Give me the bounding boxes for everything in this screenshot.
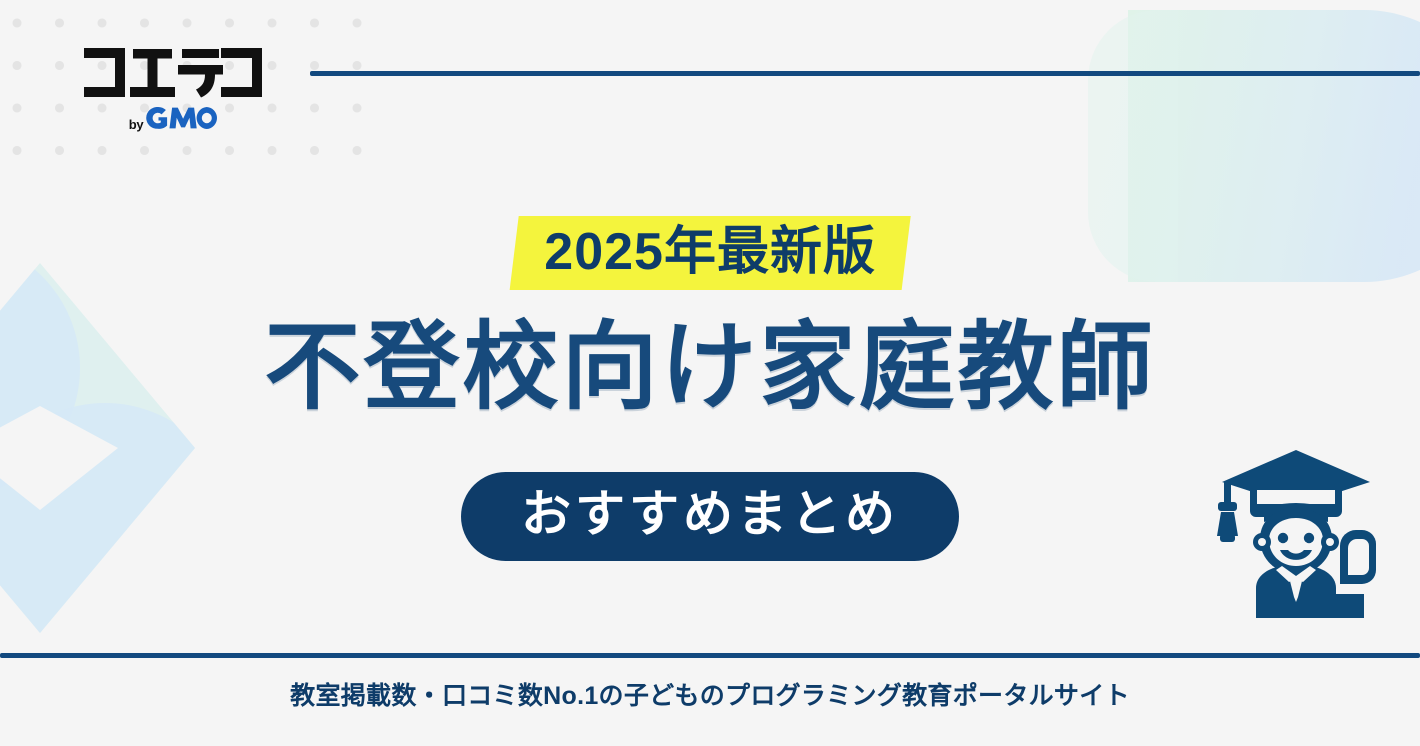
hero-content: 2025年最新版 不登校向け家庭教師 おすすめまとめ 教室掲載数・口コミ数No.…	[0, 0, 1420, 746]
year-badge: 2025年最新版	[514, 216, 906, 290]
site-tagline: 教室掲載数・口コミ数No.1の子どものプログラミング教育ポータルサイト	[290, 676, 1130, 712]
recommendations-pill-button[interactable]: おすすめまとめ	[461, 472, 959, 561]
year-badge-highlight: 2025年最新版	[510, 216, 911, 290]
hero-banner: by 2025年最新版 不登校向け家庭教師 おすすめまとめ 教室掲載数・口コミ数…	[0, 0, 1420, 746]
year-badge-label: 2025年最新版	[544, 224, 876, 280]
page-title: 不登校向け家庭教師	[265, 318, 1156, 419]
graduate-student-icon	[1212, 442, 1380, 618]
